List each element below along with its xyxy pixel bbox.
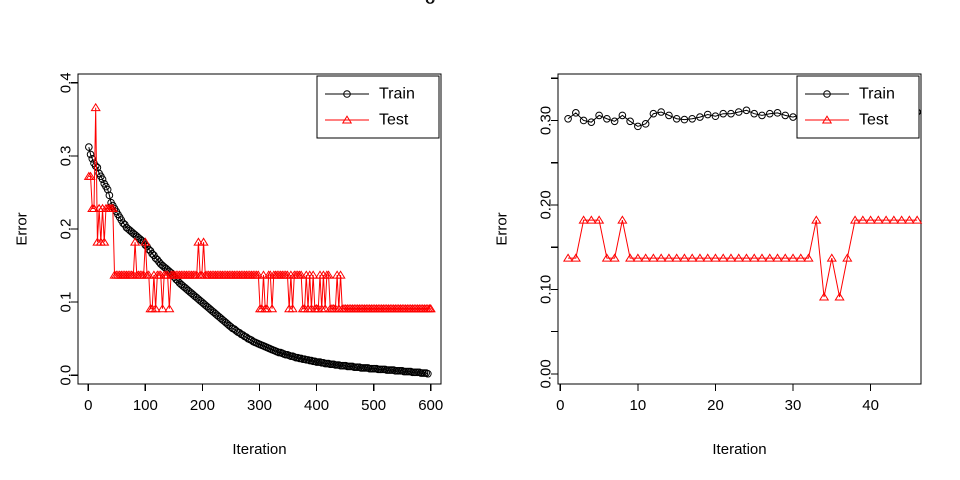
series-train-left (86, 0, 434, 377)
y-tick-label: 0.3 (58, 145, 75, 166)
x-axis-title: Iteration (712, 441, 766, 458)
x-tick-label: 600 (418, 397, 443, 414)
y-tick-label: 0.30 (538, 106, 555, 135)
x-tick-label: 0 (84, 397, 92, 414)
series-line (568, 220, 917, 297)
y-axis-title: Error (14, 212, 31, 245)
x-tick-label: 10 (630, 397, 647, 414)
y-tick-label: 0.20 (538, 190, 555, 219)
x-tick-label: 100 (133, 397, 158, 414)
y-tick-label: 0.00 (538, 359, 555, 388)
x-axis-right: 010203040 (556, 384, 879, 414)
y-axis-right: 0.000.100.200.30 (538, 78, 559, 388)
x-tick-label: 40 (862, 397, 879, 414)
chart-svg-left: 0.00.10.20.30.40100200300400500600Iterat… (0, 0, 480, 480)
x-tick-label: 200 (190, 397, 215, 414)
x-tick-label: 400 (304, 397, 329, 414)
x-axis-title: Iteration (232, 441, 286, 458)
legend-label: Train (859, 86, 895, 103)
chart-panel-right: 0.000.100.200.30010203040IterationErrorT… (480, 0, 960, 480)
y-tick-label: 0.10 (538, 275, 555, 304)
legend-label: Test (379, 112, 409, 129)
legend-left[interactable]: TrainTest (317, 76, 439, 138)
x-tick-label: 0 (556, 397, 564, 414)
legend-label: Test (859, 112, 889, 129)
legend-box (317, 76, 439, 138)
x-tick-label: 20 (707, 397, 724, 414)
x-tick-label: 30 (785, 397, 802, 414)
y-axis-title: Error (494, 212, 511, 245)
legend-right[interactable]: TrainTest (797, 76, 919, 138)
y-tick-label: 0.4 (58, 72, 75, 93)
legend-label: Train (379, 86, 415, 103)
figure-root: 0.00.10.20.30.40100200300400500600Iterat… (0, 0, 960, 480)
y-tick-label: 0.0 (58, 365, 75, 386)
legend-box (797, 76, 919, 138)
x-tick-label: 300 (247, 397, 272, 414)
chart-panel-left: 0.00.10.20.30.40100200300400500600Iterat… (0, 0, 480, 480)
y-tick-label: 0.1 (58, 292, 75, 313)
y-tick-label: 0.2 (58, 219, 75, 240)
series-test-right (564, 216, 921, 300)
x-tick-label: 500 (361, 397, 386, 414)
y-axis-left: 0.00.10.20.30.4 (58, 72, 79, 385)
chart-svg-right: 0.000.100.200.30010203040IterationErrorT… (480, 0, 960, 480)
x-axis-left: 0100200300400500600 (84, 384, 443, 414)
